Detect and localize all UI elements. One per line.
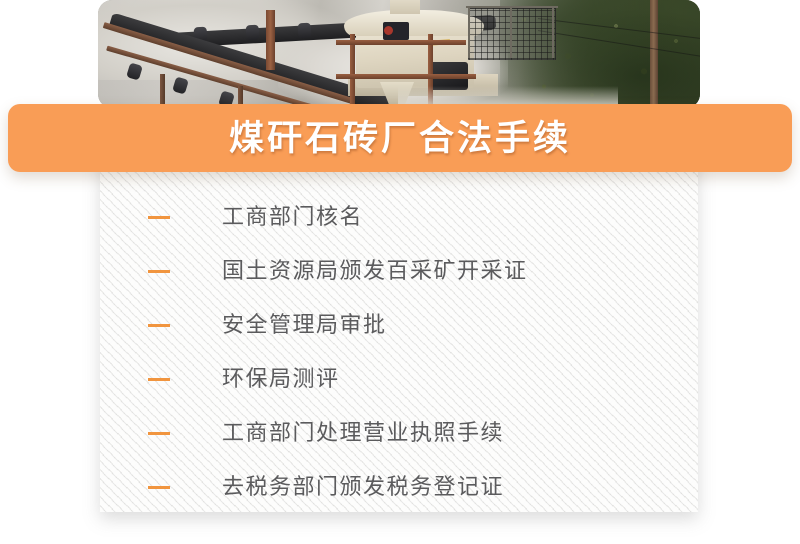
content-panel: 工商部门核名 国土资源局颁发百采矿开采证 安全管理局审批 环保局测评 工商部门处… [100,140,698,512]
dash-marker-icon [148,378,170,381]
list-item[interactable]: 环保局测评 [100,352,698,406]
list-item[interactable]: 去税务部门颁发税务登记证 [100,460,698,512]
list-item[interactable]: 国土资源局颁发百采矿开采证 [100,244,698,298]
dash-marker-icon [148,486,170,489]
dash-marker-icon [148,216,170,219]
list-item-label: 环保局测评 [222,368,340,390]
procedure-list: 工商部门核名 国土资源局颁发百采矿开采证 安全管理局审批 环保局测评 工商部门处… [100,190,698,512]
conveyor-roller [246,25,260,41]
list-item[interactable]: 工商部门处理营业执照手续 [100,406,698,460]
list-item-label: 去税务部门颁发税务登记证 [222,476,504,498]
platform-railing [466,6,558,8]
list-item-label: 工商部门处理营业执照手续 [222,422,504,444]
conveyor-support-post [160,74,165,108]
crusher-feed-inlet [390,0,420,14]
rusty-steel-column [266,10,275,70]
list-item-label: 国土资源局颁发百采矿开采证 [222,260,528,282]
header-photo [98,0,700,108]
conveyor-roller [298,23,312,39]
platform-railing-post [468,6,470,58]
platform-railing-post [510,6,512,58]
infographic-card: 工商部门核名 国土资源局颁发百采矿开采证 安全管理局审批 环保局测评 工商部门处… [0,0,800,544]
scaffold-beam [336,74,476,79]
page-title: 煤矸石砖厂合法手续 [229,121,571,156]
title-banner: 煤矸石砖厂合法手续 [8,104,792,172]
list-item-label: 工商部门核名 [222,206,363,228]
list-item[interactable]: 安全管理局审批 [100,298,698,352]
scaffold-column [350,34,355,108]
dash-marker-icon [148,432,170,435]
utility-pole [650,0,658,108]
scaffold-beam [336,40,466,45]
panel-content: 工商部门核名 国土资源局颁发百采矿开采证 安全管理局审批 环保局测评 工商部门处… [100,140,698,512]
mesh-guard-rail [468,8,556,60]
dash-marker-icon [148,270,170,273]
crusher-brand-badge [384,26,393,35]
dash-marker-icon [148,324,170,327]
platform-railing-post [552,6,554,58]
list-item-label: 安全管理局审批 [222,314,387,336]
list-item[interactable]: 工商部门核名 [100,190,698,244]
